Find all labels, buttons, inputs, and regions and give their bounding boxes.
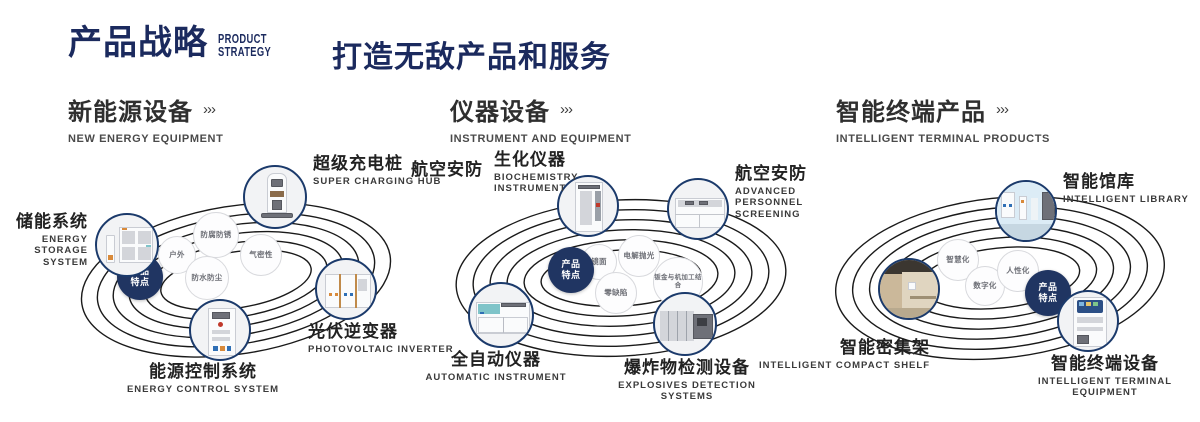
cluster-intelligent-terminal: 智慧化 数字化 人性化 产品 特点 智能馆库 INTELLIGENT LIBRA…: [810, 150, 1200, 400]
label-intelligent-library: 智能馆库 INTELLIGENT LIBRARY: [1063, 172, 1200, 205]
node-label-en: ENERGY STORAGE SYSTEM: [0, 234, 88, 270]
label-intelligent-terminal-equipment: 智能终端设备 INTELLIGENT TERMINAL EQUIPMENT: [1010, 354, 1200, 399]
center-badge-line2: 特点: [561, 270, 580, 281]
node-energy-storage-system[interactable]: [95, 213, 159, 277]
center-badge-line1: 产品: [561, 259, 580, 270]
page-header: 产品战略 PRODUCT STRATEGY: [68, 26, 368, 60]
node-label-cn: 智能密集架: [740, 338, 930, 358]
feature-bubble: 气密性: [240, 234, 282, 276]
page-subtitle: 打造无敌产品和服务: [332, 32, 611, 76]
node-intelligent-library[interactable]: [995, 180, 1057, 242]
node-label-en: INTELLIGENT COMPACT SHELF: [740, 360, 930, 372]
page-title-en-line2: STRATEGY: [218, 45, 326, 58]
feature-bubble: 防腐防锈: [193, 212, 239, 258]
node-intelligent-terminal-equipment[interactable]: [1057, 290, 1119, 352]
center-badge-line2: 特点: [1038, 293, 1057, 304]
chevron-right-icon: ›››: [996, 102, 1008, 117]
cluster-new-energy: 户外 防腐防锈 防水防尘 气密性 产品 特点 储能系统 ENERGY ST: [40, 150, 430, 400]
label-energy-control-system: 能源控制系统 ENERGY CONTROL SYSTEM: [88, 362, 318, 395]
node-label-cn: 生化仪器: [494, 150, 571, 170]
node-label-cn: 储能系统: [0, 212, 88, 232]
feature-bubble: 零缺陷: [595, 272, 637, 314]
section-title-new-energy: 新能源设备 ››› NEW ENERGY EQUIPMENT: [68, 92, 223, 145]
node-label-cn: 全自动仪器: [413, 350, 579, 370]
section-title-instrument: 仪器设备 ››› INSTRUMENT AND EQUIPMENT: [450, 92, 631, 145]
page-title-en-line1: PRODUCT: [218, 32, 326, 45]
node-explosives-detection-systems[interactable]: [653, 292, 717, 356]
center-badge-product-features: 产品 特点: [548, 247, 594, 293]
page-title-en: PRODUCT STRATEGY: [218, 32, 326, 59]
page-title-cn: 产品战略: [68, 26, 208, 60]
label-aviation-security-aux: 航空安防: [411, 160, 501, 180]
node-label-en: ENERGY CONTROL SYSTEM: [88, 384, 318, 396]
node-automatic-instrument[interactable]: [468, 282, 534, 348]
node-label-cn: 能源控制系统: [88, 362, 318, 382]
center-badge-line2: 特点: [130, 277, 149, 288]
section-title-en: NEW ENERGY EQUIPMENT: [68, 133, 223, 145]
node-energy-control-system[interactable]: [189, 299, 251, 361]
product-strategy-infographic: 产品战略 PRODUCT STRATEGY 打造无敌产品和服务 新能源设备 ››…: [0, 0, 1200, 422]
section-title-en: INSTRUMENT AND EQUIPMENT: [450, 133, 631, 145]
node-advanced-personnel-screening[interactable]: [667, 178, 729, 240]
label-automatic-instrument: 全自动仪器 AUTOMATIC INSTRUMENT: [413, 350, 579, 383]
node-label-en: AUTOMATIC INSTRUMENT: [413, 372, 579, 384]
node-label-cn: 智能终端设备: [1010, 354, 1200, 374]
node-intelligent-compact-shelf[interactable]: [878, 258, 940, 320]
chevron-right-icon: ›››: [203, 102, 215, 117]
node-label-cn: 智能馆库: [1063, 172, 1200, 192]
label-energy-storage-system: 储能系统 ENERGY STORAGE SYSTEM: [0, 212, 88, 269]
node-super-charging-hub[interactable]: [243, 165, 307, 229]
section-title-intelligent-terminal: 智能终端产品 ››› INTELLIGENT TERMINAL PRODUCTS: [836, 92, 1050, 145]
node-label-en: EXPLOSIVES DETECTION SYSTEMS: [605, 380, 769, 404]
node-label-en: INTELLIGENT LIBRARY: [1063, 194, 1200, 206]
section-title-cn: 仪器设备: [450, 92, 550, 127]
section-title-cn: 新能源设备: [68, 92, 193, 127]
feature-bubble: 电解抛光: [618, 235, 660, 277]
feature-bubble: 防水防尘: [185, 256, 229, 300]
node-label-cn: 航空安防: [411, 160, 501, 180]
section-title-en: INTELLIGENT TERMINAL PRODUCTS: [836, 133, 1050, 145]
node-photovoltaic-inverter[interactable]: [315, 258, 377, 320]
center-badge-line1: 产品: [1038, 282, 1057, 293]
section-title-cn: 智能终端产品: [836, 92, 986, 127]
node-label-en: INTELLIGENT TERMINAL EQUIPMENT: [1010, 376, 1200, 400]
chevron-right-icon: ›››: [560, 102, 572, 117]
node-label-en: BIOCHEMISTRY INSTRUMENT: [494, 172, 571, 196]
label-intelligent-compact-shelf: 智能密集架 INTELLIGENT COMPACT SHELF: [740, 338, 930, 371]
